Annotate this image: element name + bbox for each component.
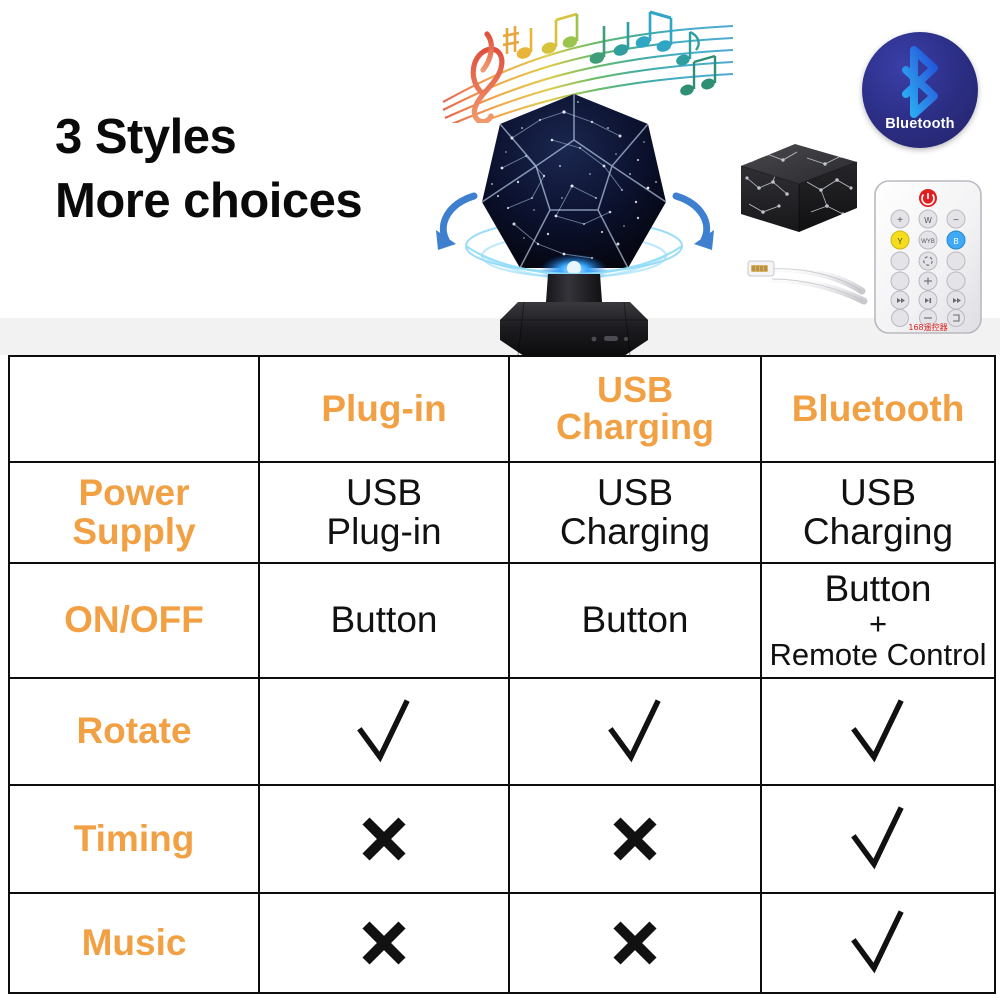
table-header-row: Plug-in USB Charging Bluetooth [9, 356, 995, 462]
svg-text:−: − [953, 215, 959, 226]
svg-text:WYB: WYB [921, 239, 935, 245]
cell-rotate-usb-charging [509, 678, 761, 785]
cross-icon [609, 813, 661, 865]
cell-timing-plug-in [259, 785, 509, 893]
cell-power-bluetooth: USB Charging [761, 462, 995, 563]
row-label-on-off: ON/OFF [9, 563, 259, 678]
infographic-page: 3 Styles More choices [0, 0, 1000, 1000]
table-row: Power Supply USB Plug-in USB Charging [9, 462, 995, 563]
check-icon [850, 699, 906, 765]
cell-onoff-usb-charging: Button [509, 563, 761, 678]
check-icon [850, 910, 906, 976]
check-icon [850, 806, 906, 872]
product-box [733, 128, 863, 240]
cell-rotate-plug-in [259, 678, 509, 785]
table-row: Music [9, 893, 995, 993]
table-corner-cell [9, 356, 259, 462]
table-row: ON/OFF Button Button Button + Remote Con… [9, 563, 995, 678]
cell-music-plug-in [259, 893, 509, 993]
headline-line-2: More choices [55, 170, 455, 234]
cell-timing-usb-charging [509, 785, 761, 893]
remote-control: + W − Y WYB B [872, 178, 984, 336]
cell-onoff-plug-in: Button [259, 563, 509, 678]
cross-icon [358, 917, 410, 969]
row-label-power-supply: Power Supply [9, 462, 259, 563]
column-header-bluetooth: Bluetooth [761, 356, 995, 462]
check-icon [356, 699, 412, 765]
cell-rotate-bluetooth [761, 678, 995, 785]
svg-text:B: B [953, 237, 958, 246]
hero-section: 3 Styles More choices [0, 0, 1000, 355]
rotation-arrow-left-icon [430, 186, 490, 258]
cell-music-usb-charging [509, 893, 761, 993]
table-row: Rotate [9, 678, 995, 785]
headline-line-1: 3 Styles [55, 110, 236, 164]
column-header-usb-charging: USB Charging [509, 356, 761, 462]
comparison-table: Plug-in USB Charging Bluetooth Power [8, 355, 996, 994]
remote-model-label: 168遥控器 [908, 322, 947, 332]
cell-timing-bluetooth [761, 785, 995, 893]
bluetooth-badge: Bluetooth [862, 32, 978, 148]
cell-onoff-bluetooth: Button + Remote Control [761, 563, 995, 678]
column-header-plug-in: Plug-in [259, 356, 509, 462]
cross-icon [609, 917, 661, 969]
page-title: 3 Styles More choices [55, 106, 455, 233]
rotation-arrow-right-icon [660, 186, 720, 258]
svg-text:+: + [897, 215, 903, 226]
table-row: Timing [9, 785, 995, 893]
row-label-timing: Timing [9, 785, 259, 893]
usb-cable [742, 245, 872, 315]
check-icon [607, 699, 663, 765]
cell-music-bluetooth [761, 893, 995, 993]
row-label-music: Music [9, 893, 259, 993]
cross-icon [358, 813, 410, 865]
row-label-rotate: Rotate [9, 678, 259, 785]
cell-power-plug-in: USB Plug-in [259, 462, 509, 563]
bluetooth-badge-label: Bluetooth [862, 116, 978, 132]
cell-power-usb-charging: USB Charging [509, 462, 761, 563]
bluetooth-icon [888, 46, 952, 118]
svg-text:W: W [924, 216, 932, 225]
svg-text:Y: Y [897, 237, 903, 246]
